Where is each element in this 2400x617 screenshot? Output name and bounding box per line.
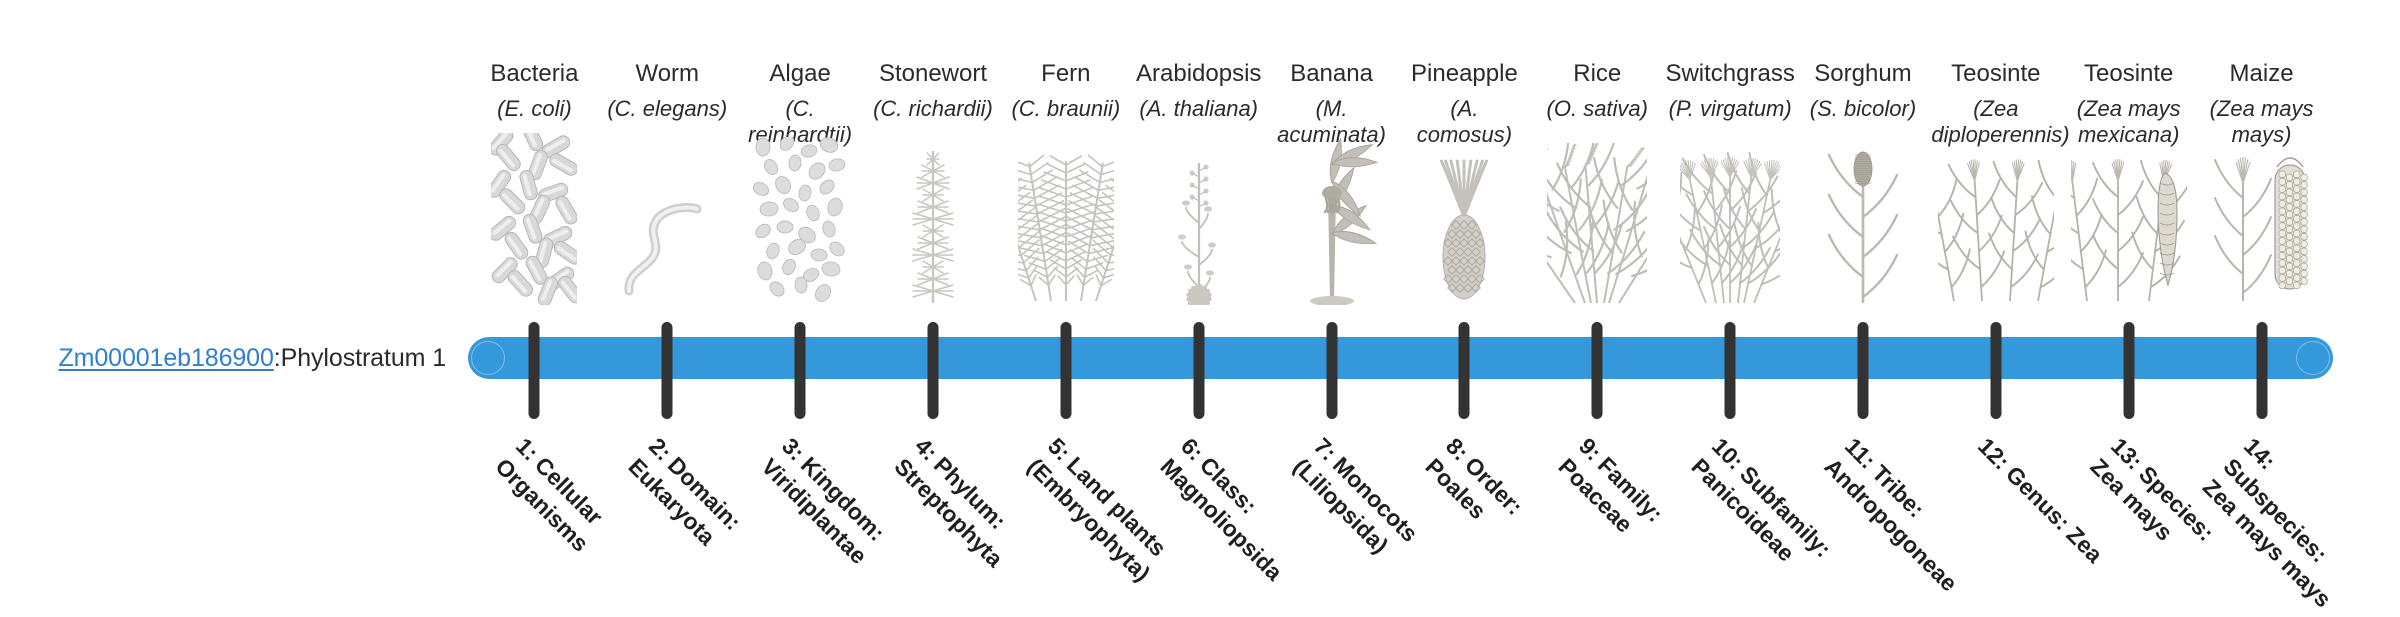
pineapple-illustration — [1398, 165, 1531, 305]
phylostratum-tick[interactable] — [2256, 322, 2267, 419]
phylostratum-tick[interactable] — [1592, 322, 1603, 419]
gene-phylostratum-label: Zm00001eb186900: Phylostratum 1 — [26, 341, 446, 375]
stonewort-alga-illustration — [867, 165, 1000, 305]
species-common-name: Arabidopsis — [1132, 60, 1265, 88]
species-common-name: Teosinte — [2062, 60, 2195, 88]
teosinte-mexicana-illustration — [2062, 165, 2195, 305]
species-scientific-name: (A. comosus) — [1400, 96, 1529, 148]
teosinte-diploperennis-illustration — [1929, 165, 2062, 305]
species-common-name: Worm — [601, 60, 734, 88]
species-common-name: Stonewort — [867, 60, 1000, 88]
green-algae-cells-illustration — [734, 165, 867, 305]
phylostratum-value: Phylostratum 1 — [281, 344, 446, 373]
species-common-name: Sorghum — [1797, 60, 1930, 88]
sorghum-plant-illustration — [1797, 165, 1930, 305]
species-column: Maize(Zea mays mays)14: Subspecies: Zea … — [2195, 0, 2328, 580]
species-common-name: Banana — [1265, 60, 1398, 88]
phylostratum-tick[interactable] — [2123, 322, 2134, 419]
banana-plant-illustration — [1265, 165, 1398, 305]
species-scientific-name: (C. elegans) — [603, 96, 732, 122]
arabidopsis-plant-illustration — [1132, 165, 1265, 305]
species-common-name: Fern — [999, 60, 1132, 88]
species-scientific-name: (O. sativa) — [1533, 96, 1662, 122]
species-common-name: Switchgrass — [1664, 60, 1797, 88]
species-column: Bacteria(E. coli)1: Cellular Organisms — [468, 0, 601, 580]
phylostratum-tick[interactable] — [1193, 322, 1204, 419]
species-scientific-name: (Zea mays mays) — [2197, 96, 2326, 148]
fern-frond-illustration — [999, 165, 1132, 305]
species-column: Teosinte(Zea mays mexicana)13: Species: … — [2062, 0, 2195, 580]
maize-ear-illustration — [2195, 165, 2328, 305]
species-columns: Bacteria(E. coli)1: Cellular OrganismsWo… — [468, 0, 2328, 580]
species-scientific-name: (P. virgatum) — [1666, 96, 1795, 122]
species-common-name: Rice — [1531, 60, 1664, 88]
phylostratum-tick[interactable] — [662, 322, 673, 419]
species-column: Switchgrass(P. virgatum)10: Subfamily: P… — [1664, 0, 1797, 580]
gene-label-separator: : — [274, 344, 281, 373]
bar-left-cap-arc — [471, 341, 505, 375]
phylostratigraphy-figure: Zm00001eb186900: Phylostratum 1 Bacteria… — [0, 0, 2400, 580]
species-column: Stonewort(C. richardii)4: Phylum: Strept… — [867, 0, 1000, 580]
species-column: Rice(O. sativa)9: Family: Poaceae — [1531, 0, 1664, 580]
phylostratum-tick[interactable] — [1060, 322, 1071, 419]
species-column: Worm(C. elegans)2: Domain: Eukaryota — [601, 0, 734, 580]
species-column: Banana(M. acuminata)7: Monocots (Liliops… — [1265, 0, 1398, 580]
phylostratum-tick[interactable] — [1326, 322, 1337, 419]
bacteria-rods-illustration — [468, 165, 601, 305]
species-column: Sorghum(S. bicolor)11: Tribe: Andropogon… — [1797, 0, 1930, 580]
species-column: Arabidopsis(A. thaliana)6: Class: Magnol… — [1132, 0, 1265, 580]
phylostratum-tick[interactable] — [1459, 322, 1470, 419]
species-common-name: Bacteria — [468, 60, 601, 88]
species-column: Pineapple(A. comosus)8: Order: Poales — [1398, 0, 1531, 580]
phylostratum-tick[interactable] — [1725, 322, 1736, 419]
species-scientific-name: (E. coli) — [470, 96, 599, 122]
species-scientific-name: (S. bicolor) — [1799, 96, 1928, 122]
species-scientific-name: (C. richardii) — [869, 96, 998, 122]
phylostratum-tick[interactable] — [927, 322, 938, 419]
species-scientific-name: (C. braunii) — [1001, 96, 1130, 122]
phylostratum-tick[interactable] — [1857, 322, 1868, 419]
switchgrass-illustration — [1664, 165, 1797, 305]
phylostratum-tick[interactable] — [1990, 322, 2001, 419]
species-scientific-name: (A. thaliana) — [1134, 96, 1263, 122]
phylostratum-tick[interactable] — [529, 322, 540, 419]
species-common-name: Teosinte — [1929, 60, 2062, 88]
species-common-name: Pineapple — [1398, 60, 1531, 88]
phylostratum-tick[interactable] — [795, 322, 806, 419]
species-column: Teosinte(Zea diploperennis)12: Genus: Ze… — [1929, 0, 2062, 580]
species-scientific-name: (Zea mays mexicana) — [2064, 96, 2193, 148]
gene-id-link[interactable]: Zm00001eb186900 — [58, 344, 273, 373]
species-column: Fern(C. braunii)5: Land plants (Embryoph… — [999, 0, 1132, 580]
species-scientific-name: (Zea diploperennis) — [1931, 96, 2060, 148]
species-column: Algae(C. reinhardtii)3: Kingdom: Viridip… — [734, 0, 867, 580]
species-common-name: Maize — [2195, 60, 2328, 88]
nematode-worm-illustration — [601, 165, 734, 305]
bar-right-cap-arc — [2296, 341, 2330, 375]
rice-plant-illustration — [1531, 165, 1664, 305]
phylostratum-bar[interactable] — [468, 337, 2333, 379]
species-common-name: Algae — [734, 60, 867, 88]
taxonomic-rank-label: 14: Subspecies: Zea mays mays — [2196, 432, 2381, 617]
